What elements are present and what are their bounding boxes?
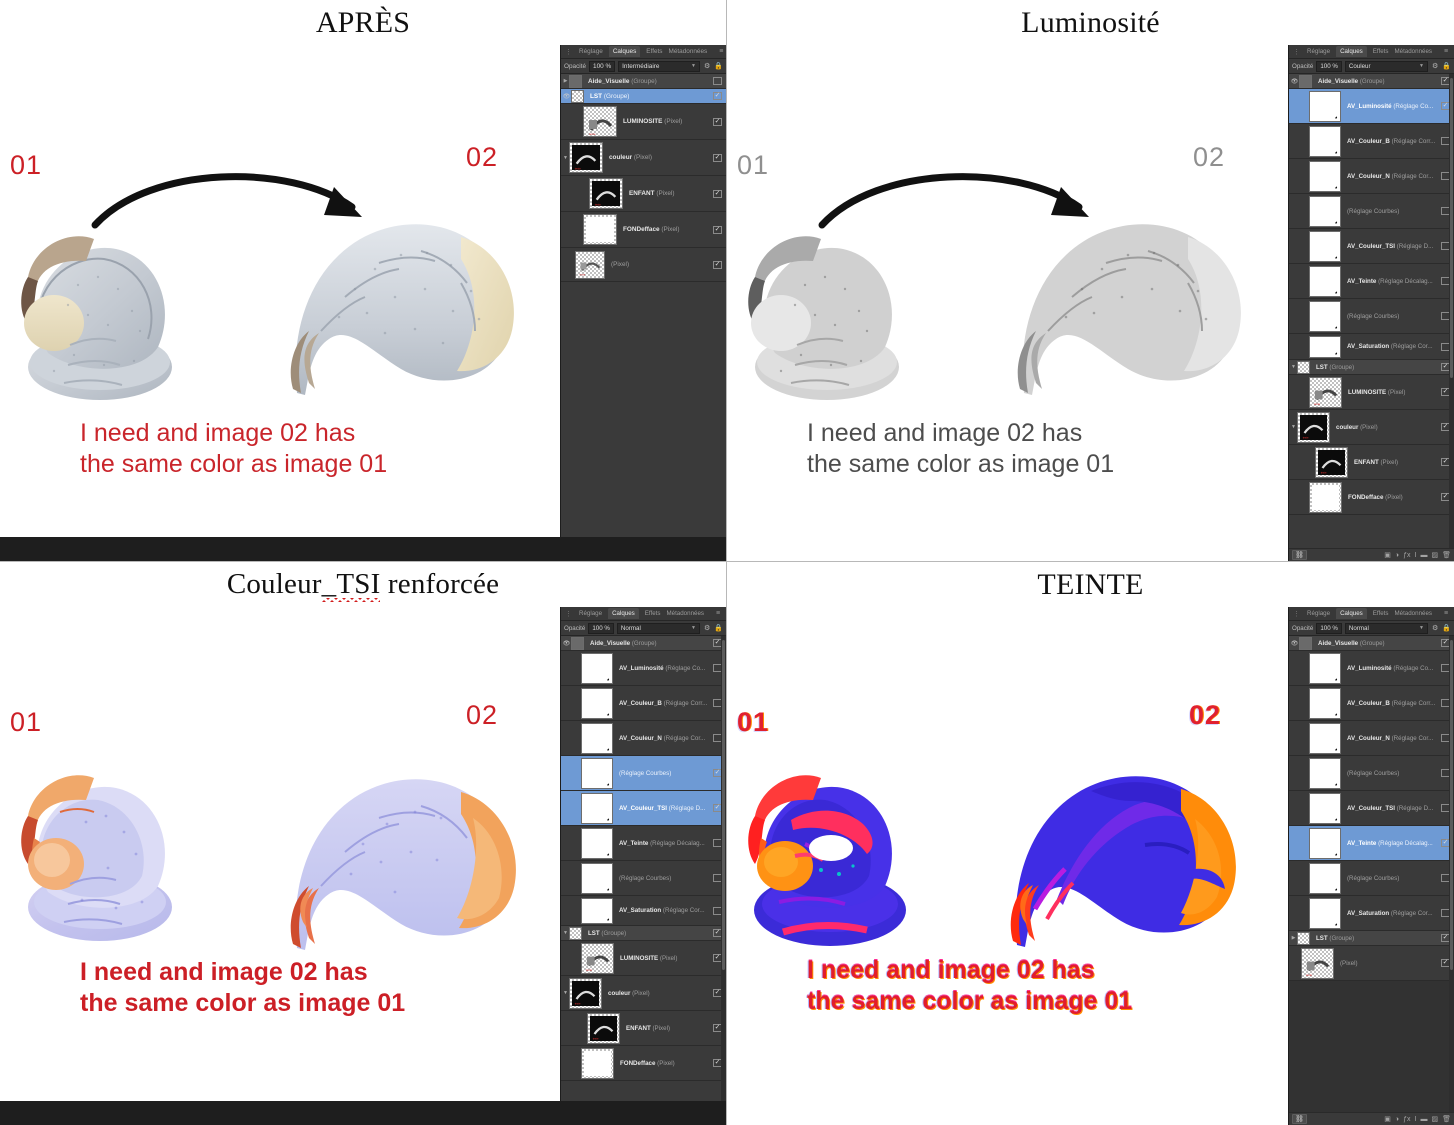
layer-row-reglage-courbes-2[interactable]: ◕ (Réglage Courbes) bbox=[1289, 861, 1454, 896]
tab-effets[interactable]: Effets bbox=[1373, 610, 1389, 617]
layer-row-av-saturation[interactable]: ◕ AV_Saturation (Réglage Cor... bbox=[1289, 896, 1454, 931]
layer-row-av-teinte[interactable]: ◕ AV_Teinte (Réglage Décalag... bbox=[1289, 826, 1454, 861]
layer-kind: (Réglage Cor... bbox=[1392, 173, 1434, 180]
image-label-01: 01 bbox=[10, 150, 42, 181]
tab-metadonnees[interactable]: Métadonnées bbox=[1394, 610, 1432, 617]
quadrant-luminosite: Luminosité 01 02 bbox=[727, 0, 1454, 562]
blend-mode-value: Normal bbox=[621, 625, 641, 632]
layers-list-3[interactable]: 👁 Aide_Visuelle (Groupe) ◕ AV_Luminosité… bbox=[561, 636, 726, 1112]
layer-thumbnail: ◕ bbox=[581, 793, 613, 824]
gear-icon[interactable]: ⚙ bbox=[1432, 624, 1438, 632]
layer-row-reglage-courbes-1[interactable]: ◕ (Réglage Courbes) bbox=[1289, 194, 1454, 229]
layer-kind: (Réglage Courbes) bbox=[619, 875, 671, 882]
text-icon[interactable]: I bbox=[1415, 1116, 1417, 1123]
tab-calques[interactable]: Calques bbox=[608, 608, 639, 619]
panel-scrollbar[interactable] bbox=[721, 636, 726, 1112]
layer-row-av-luminosite[interactable]: ◕ AV_Luminosité (Réglage Co... bbox=[1289, 651, 1454, 686]
layer-kind: (Pixel) bbox=[661, 226, 679, 233]
layer-row-reglage-courbes-2[interactable]: ◕ (Réglage Courbes) bbox=[561, 861, 726, 896]
layer-name: LUMINOSITE bbox=[1348, 389, 1386, 396]
bottom-bar-1 bbox=[0, 537, 726, 561]
opacity-label: Opacité bbox=[1292, 63, 1313, 70]
blend-mode-select[interactable]: Couleur ▼ bbox=[1345, 61, 1428, 72]
layer-row-reglage-courbes-1[interactable]: ◕ (Réglage Courbes) bbox=[1289, 756, 1454, 791]
layer-thumbnail bbox=[1297, 932, 1310, 945]
mask-icon: ◕ bbox=[1333, 325, 1339, 331]
layer-name: Aide_Visuelle bbox=[588, 78, 629, 85]
quadrant-title-couleur-tsi: Couleur_TSI renforcée bbox=[0, 562, 726, 607]
svg-text:texte: texte bbox=[1303, 435, 1309, 439]
layer-row-enfant[interactable]: texte ENFANT (Pixel) bbox=[561, 176, 726, 212]
layer-visibility-checkbox[interactable] bbox=[713, 261, 722, 269]
quadrant-apres: APRÈS 01 02 bbox=[0, 0, 727, 562]
mask-icon: ◕ bbox=[1333, 817, 1339, 823]
layer-row-couleur[interactable]: ▼ texte couleur (Pixel) bbox=[561, 976, 726, 1011]
tab-metadonnees[interactable]: Métadonnées bbox=[1394, 48, 1432, 55]
layer-kind: (Réglage Courbes) bbox=[1347, 875, 1399, 882]
mask-icon: ◕ bbox=[605, 852, 611, 858]
layer-thumbnail: texte bbox=[1301, 948, 1334, 979]
opacity-label: Opacité bbox=[1292, 625, 1313, 632]
lock-icon[interactable]: 🔒 bbox=[1442, 62, 1451, 70]
new-layer-icon[interactable]: ▨ bbox=[1431, 551, 1438, 559]
layer-row-lst[interactable]: 👁 LST (Groupe) bbox=[561, 89, 726, 104]
mask-icon: ◕ bbox=[1333, 887, 1339, 893]
layer-row-av-couleur-tsi[interactable]: ◕ AV_Couleur_TSI (Réglage D... bbox=[1289, 229, 1454, 264]
opacity-value[interactable]: 100 % bbox=[1316, 61, 1342, 72]
tab-reglage[interactable]: Réglage bbox=[579, 48, 603, 55]
layer-visibility-checkbox[interactable] bbox=[713, 190, 722, 198]
layer-name: couleur bbox=[1336, 424, 1358, 431]
blend-mode-select[interactable]: Normal ▼ bbox=[617, 623, 700, 634]
layer-row-enfant[interactable]: texte ENFANT (Pixel) bbox=[1289, 445, 1454, 480]
mask-icon: ◕ bbox=[1333, 922, 1339, 928]
mask-icon: ◕ bbox=[605, 747, 611, 753]
layer-kind: (Réglage Cor... bbox=[1391, 343, 1433, 350]
layers-list-1[interactable]: ▶ Aide_Visuelle (Groupe) 👁 LST (Groupe) bbox=[561, 74, 726, 548]
layer-thumbnail: texte bbox=[1315, 447, 1348, 478]
chevron-down-icon: ▼ bbox=[691, 63, 696, 69]
layer-thumbnail: ◕ bbox=[1309, 863, 1341, 894]
canvas-area-1[interactable]: 01 02 bbox=[0, 45, 560, 561]
layer-kind: (Pixel) bbox=[1388, 389, 1406, 396]
layer-name: FONDefface bbox=[620, 1060, 655, 1067]
mask-icon: ◕ bbox=[1333, 185, 1339, 191]
layer-name: ENFANT bbox=[629, 190, 655, 197]
layer-thumbnail: ◕ bbox=[1309, 758, 1341, 789]
layer-name: Aide_Visuelle bbox=[1318, 640, 1358, 647]
layer-row-reglage-courbes-2[interactable]: ◕ (Réglage Courbes) bbox=[1289, 299, 1454, 334]
title-part-2: renforcée bbox=[380, 568, 499, 601]
gear-icon[interactable]: ⚙ bbox=[1432, 62, 1438, 70]
layer-kind: (Réglage Co... bbox=[1393, 665, 1433, 672]
layer-kind: (Réglage Courbes) bbox=[1347, 770, 1399, 777]
layer-kind: (Réglage D... bbox=[669, 805, 705, 812]
tab-reglage[interactable]: Réglage bbox=[1307, 48, 1330, 55]
layer-thumbnail bbox=[571, 90, 584, 103]
layer-thumbnail: texte bbox=[589, 178, 623, 209]
link-icon[interactable]: ⛓ bbox=[1292, 550, 1307, 560]
layer-row-av-couleur-n[interactable]: ◕ AV_Couleur_N (Réglage Cor... bbox=[1289, 721, 1454, 756]
layer-thumbnail bbox=[581, 1048, 614, 1079]
layer-visibility-checkbox[interactable] bbox=[713, 92, 722, 100]
annotation-text-2: I need and image 02 has the same color a… bbox=[807, 418, 1114, 481]
layer-kind: (Réglage Cor... bbox=[1392, 735, 1434, 742]
layer-row-fondefface[interactable]: FONDefface (Pixel) bbox=[1289, 480, 1454, 515]
gear-icon[interactable]: ⚙ bbox=[704, 624, 710, 632]
layers-panel-1[interactable]: ⋮ Réglage Calques Effets Métadonnées ≡ ✕… bbox=[560, 45, 726, 561]
layer-row-av-couleur-tsi[interactable]: ◕ AV_Couleur_TSI (Réglage D... bbox=[561, 791, 726, 826]
layer-kind: (Pixel) bbox=[664, 118, 682, 125]
panel-scrollbar[interactable] bbox=[1449, 636, 1454, 1112]
layer-kind: (Réglage D... bbox=[1397, 243, 1433, 250]
layer-name: Aide_Visuelle bbox=[1318, 78, 1358, 85]
canvas-area-2[interactable]: 01 02 bbox=[727, 45, 1288, 561]
eye-icon[interactable]: 👁 bbox=[1290, 78, 1299, 85]
layer-kind: (Réglage Décalag... bbox=[1378, 840, 1433, 847]
panel-menu-icon[interactable]: ≡ bbox=[719, 48, 723, 55]
expand-arrow-icon[interactable]: ▼ bbox=[1290, 364, 1297, 370]
title-part-1: Couleur bbox=[227, 568, 322, 601]
gear-icon[interactable]: ⚙ bbox=[704, 62, 710, 70]
canvas-stage-4: 01 02 bbox=[727, 607, 1288, 1125]
adjustment-icon[interactable]: ◑ bbox=[1395, 1116, 1399, 1123]
layer-kind: (Réglage D... bbox=[1397, 805, 1433, 812]
layer-thumbnail: ◕ bbox=[1309, 196, 1341, 227]
layer-thumbnail: texte bbox=[1309, 377, 1342, 408]
layer-row-av-teinte[interactable]: ◕ AV_Teinte (Réglage Décalag... bbox=[561, 826, 726, 861]
layer-kind: (Groupe) bbox=[1360, 78, 1385, 85]
expand-arrow-icon[interactable]: ▶ bbox=[1290, 935, 1297, 941]
chevron-down-icon: ▼ bbox=[1419, 63, 1424, 69]
layer-row-av-couleur-n[interactable]: ◕ AV_Couleur_N (Réglage Cor... bbox=[1289, 159, 1454, 194]
layer-kind: (Réglage Corr... bbox=[1392, 138, 1436, 145]
layer-row-luminosite[interactable]: texte LUMINOSITE (Pixel) bbox=[561, 104, 726, 140]
shrimp-image-01 bbox=[735, 215, 920, 410]
blend-mode-select[interactable]: Normal ▼ bbox=[1345, 623, 1428, 634]
expand-arrow-icon[interactable]: ▼ bbox=[562, 930, 569, 936]
opacity-label: Opacité bbox=[564, 625, 585, 632]
chevron-down-icon: ▼ bbox=[1419, 625, 1424, 631]
panel-options-3[interactable]: Opacité 100 % Normal ▼ ⚙ 🔒 bbox=[561, 621, 726, 636]
layer-kind: (Pixel) bbox=[634, 154, 652, 161]
layer-visibility-checkbox[interactable] bbox=[713, 77, 722, 85]
mask-icon: ◕ bbox=[1333, 115, 1339, 121]
mask-icon: ◕ bbox=[605, 817, 611, 823]
shrimp-image-01 bbox=[735, 752, 935, 957]
fx-icon[interactable]: ƒx bbox=[1403, 1116, 1410, 1123]
panel-options-4[interactable]: Opacité 100 % Normal ▼ ⚙ 🔒 bbox=[1289, 621, 1454, 636]
panel-menu-icon[interactable]: ≡ bbox=[1444, 48, 1448, 55]
lock-icon[interactable]: 🔒 bbox=[1442, 624, 1451, 632]
layer-row-aide-visuelle[interactable]: 👁 Aide_Visuelle (Groupe) bbox=[1289, 636, 1454, 651]
canvas-area-3[interactable]: 01 02 bbox=[0, 607, 560, 1125]
canvas-stage-3: 01 02 bbox=[0, 607, 560, 1125]
svg-text:texte: texte bbox=[589, 132, 596, 136]
photoshop-screenshot-3: 01 02 bbox=[0, 607, 726, 1125]
fx-icon[interactable]: ƒx bbox=[1403, 552, 1410, 559]
layer-thumbnail: ◕ bbox=[581, 898, 613, 924]
layer-name: AV_Couleur_TSI bbox=[1347, 805, 1395, 812]
annotation-text-4: I need and image 02 has the same color a… bbox=[807, 955, 1132, 1018]
layer-name: AV_Couleur_TSI bbox=[619, 805, 667, 812]
image-label-02: 02 bbox=[1193, 142, 1225, 173]
layer-thumbnail: ◕ bbox=[1309, 336, 1341, 358]
shrimp-image-02 bbox=[995, 749, 1260, 964]
layer-visibility-checkbox[interactable] bbox=[713, 154, 722, 162]
layer-kind: (Pixel) bbox=[632, 990, 650, 997]
layer-row-fondefface[interactable]: FONDefface (Pixel) bbox=[561, 1046, 726, 1081]
layer-kind: (Pixel) bbox=[660, 955, 678, 962]
layer-row-av-couleur-b[interactable]: ◕ AV_Couleur_B (Réglage Corr... bbox=[561, 686, 726, 721]
layer-visibility-checkbox[interactable] bbox=[713, 118, 722, 126]
layer-thumbnail: texte bbox=[583, 106, 617, 137]
tab-effets[interactable]: Effets bbox=[646, 48, 662, 55]
layer-thumbnail: ◕ bbox=[581, 828, 613, 859]
layer-name: AV_Teinte bbox=[1347, 840, 1376, 847]
mask-icon: ◕ bbox=[1333, 351, 1339, 357]
layer-kind: (Groupe) bbox=[1329, 935, 1354, 942]
svg-text:texte: texte bbox=[595, 202, 601, 206]
mask-icon: ◕ bbox=[605, 712, 611, 718]
layer-name: LUMINOSITE bbox=[623, 118, 662, 125]
layer-name: AV_Couleur_N bbox=[1347, 735, 1390, 742]
layer-thumbnail: ◕ bbox=[581, 653, 613, 684]
adjustment-icon[interactable]: ◑ bbox=[1395, 552, 1399, 559]
layer-kind: (Réglage Co... bbox=[665, 665, 705, 672]
layer-row-aide-visuelle[interactable]: 👁 Aide_Visuelle (Groupe) bbox=[1289, 74, 1454, 89]
photoshop-screenshot-2: 01 02 bbox=[727, 45, 1454, 561]
layer-row-luminosite[interactable]: texte LUMINOSITE (Pixel) bbox=[1289, 375, 1454, 410]
layer-thumbnail: ◕ bbox=[1309, 688, 1341, 719]
layer-thumbnail: texte bbox=[575, 251, 605, 279]
layer-row-pixel[interactable]: texte (Pixel) bbox=[1289, 946, 1454, 981]
layer-kind: (Réglage Cor... bbox=[663, 907, 705, 914]
opacity-value[interactable]: 100 % bbox=[589, 61, 615, 72]
layer-thumbnail: ◕ bbox=[1309, 126, 1341, 157]
layer-kind: (Réglage Décalag... bbox=[1378, 278, 1433, 285]
tab-metadonnees[interactable]: Métadonnées bbox=[669, 48, 708, 55]
new-group-icon[interactable]: ▬ bbox=[1420, 552, 1427, 559]
layer-row-luminosite[interactable]: texte LUMINOSITE (Pixel) bbox=[561, 941, 726, 976]
layer-row-av-luminosite[interactable]: ◕ AV_Luminosité (Réglage Co... bbox=[561, 651, 726, 686]
layer-name: AV_Couleur_N bbox=[1347, 173, 1390, 180]
layer-name: couleur bbox=[608, 990, 630, 997]
new-layer-icon[interactable]: ▨ bbox=[1431, 1115, 1438, 1123]
delete-icon[interactable]: 🗑 bbox=[1442, 1115, 1451, 1123]
layer-row-av-luminosite[interactable]: ◕ AV_Luminosité (Réglage Co... bbox=[1289, 89, 1454, 124]
layer-thumbnail bbox=[569, 75, 582, 88]
tab-calques[interactable]: Calques bbox=[1336, 608, 1367, 619]
svg-text:texte: texte bbox=[593, 1036, 599, 1040]
layer-row-av-saturation[interactable]: ◕ AV_Saturation (Réglage Cor... bbox=[561, 896, 726, 926]
delete-icon[interactable]: 🗑 bbox=[1442, 551, 1451, 559]
layer-row-av-couleur-b[interactable]: ◕ AV_Couleur_B (Réglage Corr... bbox=[1289, 124, 1454, 159]
blend-mode-value: Couleur bbox=[1349, 63, 1371, 70]
layer-thumbnail: texte bbox=[569, 978, 602, 1009]
lock-icon[interactable]: 🔒 bbox=[714, 62, 723, 70]
svg-text:texte: texte bbox=[1321, 470, 1327, 474]
annotation-text-1: I need and image 02 has the same color a… bbox=[80, 418, 387, 481]
tab-reglage[interactable]: Réglage bbox=[1307, 610, 1330, 617]
layer-name: ENFANT bbox=[1354, 459, 1379, 466]
layer-name: LST bbox=[588, 930, 600, 937]
quadrant-title-apres: APRÈS bbox=[0, 0, 726, 45]
image-label-02: 02 bbox=[466, 142, 498, 173]
eye-icon[interactable]: 👁 bbox=[562, 93, 571, 100]
add-mask-icon[interactable]: ▣ bbox=[1384, 1115, 1391, 1123]
layer-row-lst[interactable]: ▶ LST (Groupe) bbox=[1289, 931, 1454, 946]
image-label-02: 02 bbox=[1189, 700, 1221, 731]
layer-thumbnail bbox=[583, 214, 617, 245]
image-label-01: 01 bbox=[737, 707, 769, 738]
tab-calques[interactable]: Calques bbox=[609, 46, 640, 57]
canvas-area-4[interactable]: 01 02 bbox=[727, 607, 1288, 1125]
tab-reglage[interactable]: Réglage bbox=[579, 610, 602, 617]
mask-icon: ◕ bbox=[1333, 712, 1339, 718]
layer-name: AV_Couleur_B bbox=[1347, 700, 1390, 707]
svg-text:texte: texte bbox=[575, 166, 581, 170]
layer-thumbnail: ◕ bbox=[1309, 161, 1341, 192]
layer-thumbnail bbox=[1309, 482, 1342, 513]
layer-row-av-teinte[interactable]: ◕ AV_Teinte (Réglage Décalag... bbox=[1289, 264, 1454, 299]
svg-text:texte: texte bbox=[1314, 402, 1321, 406]
expand-arrow-icon[interactable]: ▼ bbox=[1290, 424, 1297, 430]
layer-kind: (Pixel) bbox=[1340, 960, 1358, 967]
panel-menu-icon[interactable]: ≡ bbox=[1444, 610, 1448, 617]
layers-panel-2[interactable]: ⋮ Réglage Calques Effets Métadonnées ≡ ✕… bbox=[1288, 45, 1454, 561]
layer-visibility-checkbox[interactable] bbox=[713, 226, 722, 234]
layer-thumbnail: ◕ bbox=[581, 723, 613, 754]
layer-thumbnail: ◕ bbox=[1309, 828, 1341, 859]
layer-row-couleur[interactable]: ▼ texte couleur (Pixel) bbox=[1289, 410, 1454, 445]
layer-kind: (Groupe) bbox=[1360, 640, 1385, 647]
layer-row-lst[interactable]: ▼ LST (Groupe) bbox=[561, 926, 726, 941]
shrimp-image-02 bbox=[275, 752, 530, 962]
expand-arrow-icon[interactable]: ▶ bbox=[562, 78, 569, 84]
canvas-stage-1: 01 02 bbox=[0, 45, 560, 561]
layer-name: Aide_Visuelle bbox=[590, 640, 630, 647]
eye-icon[interactable]: 👁 bbox=[1290, 640, 1299, 647]
opacity-value[interactable]: 100 % bbox=[1316, 623, 1342, 634]
layer-thumbnail: ◕ bbox=[1309, 266, 1341, 297]
layer-thumbnail bbox=[1299, 75, 1312, 88]
layer-thumbnail: ◕ bbox=[1309, 301, 1341, 332]
tab-effets[interactable]: Effets bbox=[645, 610, 661, 617]
layer-thumbnail: ◕ bbox=[1309, 653, 1341, 684]
layer-row-fondefface[interactable]: FONDefface (Pixel) bbox=[561, 212, 726, 248]
layer-thumbnail: ◕ bbox=[1309, 91, 1341, 122]
link-icon[interactable]: ⛓ bbox=[1292, 1114, 1307, 1124]
layer-kind: (Pixel) bbox=[1385, 494, 1403, 501]
layer-kind: (Groupe) bbox=[1329, 364, 1354, 371]
lock-icon[interactable]: 🔒 bbox=[714, 624, 723, 632]
opacity-label: Opacité bbox=[564, 63, 586, 70]
layer-row-av-couleur-n[interactable]: ◕ AV_Couleur_N (Réglage Cor... bbox=[561, 721, 726, 756]
shrimp-image-01 bbox=[8, 215, 193, 410]
panel-grip-icon: ⋮ bbox=[1293, 610, 1300, 618]
panel-tabs-2[interactable]: ⋮ Réglage Calques Effets Métadonnées ≡ ✕ bbox=[1289, 45, 1454, 59]
layer-name: ENFANT bbox=[626, 1025, 651, 1032]
panel-options-2[interactable]: Opacité 100 % Couleur ▼ ⚙ 🔒 bbox=[1289, 59, 1454, 74]
svg-text:texte: texte bbox=[580, 272, 586, 276]
panel-footer-4[interactable]: ⛓ ▣ ◑ ƒx I ▬ ▨ 🗑 bbox=[1289, 1112, 1454, 1125]
layer-row-av-saturation[interactable]: ◕ AV_Saturation (Réglage Cor... bbox=[1289, 334, 1454, 360]
layer-thumbnail: ◕ bbox=[581, 863, 613, 894]
layer-kind: (Groupe) bbox=[631, 78, 657, 85]
new-group-icon[interactable]: ▬ bbox=[1420, 1116, 1427, 1123]
layers-panel-4[interactable]: ⋮ Réglage Calques Effets Métadonnées ≡ ✕… bbox=[1288, 607, 1454, 1125]
layer-row-av-couleur-b[interactable]: ◕ AV_Couleur_B (Réglage Corr... bbox=[1289, 686, 1454, 721]
layer-row-aide-visuelle[interactable]: ▶ Aide_Visuelle (Groupe) bbox=[561, 74, 726, 89]
tab-effets[interactable]: Effets bbox=[1373, 48, 1389, 55]
layer-row-aide-visuelle[interactable]: 👁 Aide_Visuelle (Groupe) bbox=[561, 636, 726, 651]
expand-arrow-icon[interactable]: ▼ bbox=[562, 990, 569, 996]
layer-row-couleur[interactable]: ▼ texte couleur (Pixel) bbox=[561, 140, 726, 176]
layers-list-4[interactable]: 👁 Aide_Visuelle (Groupe) ◕ AV_Luminosité… bbox=[1289, 636, 1454, 1112]
layer-kind: (Pixel) bbox=[1380, 459, 1398, 466]
panel-tabs-3[interactable]: ⋮ Réglage Calques Effets Métadonnées ≡ ✕ bbox=[561, 607, 726, 621]
blend-mode-select[interactable]: Intermédiaire ▼ bbox=[618, 61, 700, 72]
mask-icon: ◕ bbox=[605, 677, 611, 683]
eye-icon[interactable]: 👁 bbox=[562, 640, 571, 647]
layer-row-unnamed[interactable]: texte (Pixel) bbox=[561, 248, 726, 282]
layer-thumbnail: ◕ bbox=[1309, 898, 1341, 929]
layer-row-lst[interactable]: ▼ LST (Groupe) bbox=[1289, 360, 1454, 375]
layer-name: LST bbox=[1316, 364, 1328, 371]
layer-name: AV_Luminosité bbox=[1347, 665, 1392, 672]
layer-name: AV_Saturation bbox=[619, 907, 661, 914]
tab-metadonnees[interactable]: Métadonnées bbox=[666, 610, 704, 617]
layer-thumbnail bbox=[571, 637, 584, 650]
layer-thumbnail: texte bbox=[581, 943, 614, 974]
layer-thumbnail: ◕ bbox=[581, 688, 613, 719]
layer-thumbnail bbox=[569, 927, 582, 940]
mask-icon: ◕ bbox=[1333, 150, 1339, 156]
panel-grip-icon: ⋮ bbox=[1293, 48, 1300, 56]
layer-kind: (Pixel) bbox=[657, 1060, 675, 1067]
svg-text:texte: texte bbox=[575, 1001, 581, 1005]
layer-name: FONDefface bbox=[1348, 494, 1383, 501]
layer-kind: (Réglage Décalag... bbox=[650, 840, 705, 847]
quadrant-title-luminosite: Luminosité bbox=[727, 0, 1454, 45]
mask-icon: ◕ bbox=[1333, 677, 1339, 683]
layers-list-2[interactable]: 👁 Aide_Visuelle (Groupe) ◕ AV_Luminosité… bbox=[1289, 74, 1454, 548]
text-icon[interactable]: I bbox=[1415, 552, 1417, 559]
panel-scrollbar[interactable] bbox=[1449, 74, 1454, 548]
panel-menu-icon[interactable]: ≡ bbox=[716, 610, 720, 617]
panel-tabs-4[interactable]: ⋮ Réglage Calques Effets Métadonnées ≡ ✕ bbox=[1289, 607, 1454, 621]
add-mask-icon[interactable]: ▣ bbox=[1384, 551, 1391, 559]
panel-tabs-1[interactable]: ⋮ Réglage Calques Effets Métadonnées ≡ ✕ bbox=[561, 45, 726, 59]
layer-row-reglage-courbes-1[interactable]: ◕ (Réglage Courbes) bbox=[561, 756, 726, 791]
layer-row-av-couleur-tsi[interactable]: ◕ AV_Couleur_TSI (Réglage D... bbox=[1289, 791, 1454, 826]
tab-calques[interactable]: Calques bbox=[1336, 46, 1367, 57]
panel-footer-2[interactable]: ⛓ ▣ ◑ ƒx I ▬ ▨ 🗑 bbox=[1289, 548, 1454, 561]
svg-text:texte: texte bbox=[1306, 973, 1313, 977]
title-spellcheck-part: _TSI bbox=[322, 568, 381, 601]
mask-icon: ◕ bbox=[1333, 782, 1339, 788]
image-label-01: 01 bbox=[737, 150, 769, 181]
layer-row-enfant[interactable]: texte ENFANT (Pixel) bbox=[561, 1011, 726, 1046]
shrimp-image-02 bbox=[275, 193, 530, 408]
layers-panel-3[interactable]: ⋮ Réglage Calques Effets Métadonnées ≡ ✕… bbox=[560, 607, 726, 1125]
photoshop-screenshot-4: 01 02 bbox=[727, 607, 1454, 1125]
expand-arrow-icon[interactable]: ▼ bbox=[562, 155, 569, 161]
opacity-value[interactable]: 100 % bbox=[588, 623, 614, 634]
image-label-01: 01 bbox=[10, 707, 42, 738]
panel-options-1[interactable]: Opacité 100 % Intermédiaire ▼ ⚙ 🔒 bbox=[561, 59, 726, 74]
